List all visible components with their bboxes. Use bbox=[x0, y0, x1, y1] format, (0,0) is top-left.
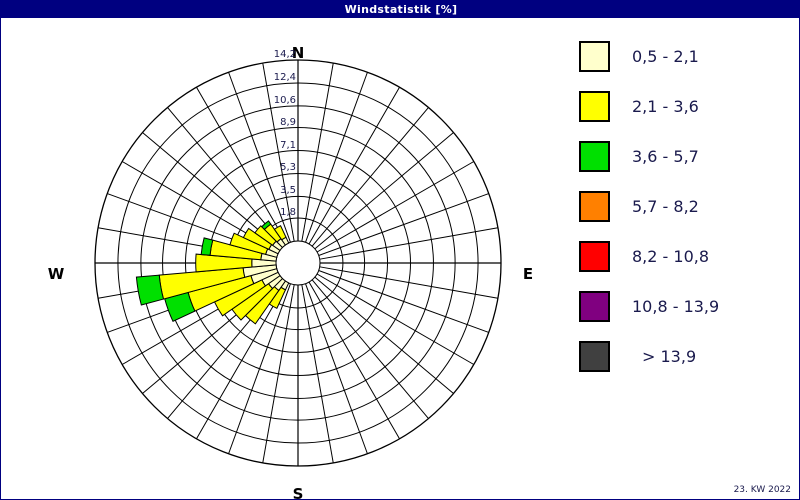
legend-label: 0,5 - 2,1 bbox=[632, 47, 699, 66]
radial-tick-label: 3,5 bbox=[256, 185, 296, 196]
legend-swatch bbox=[579, 191, 610, 222]
compass-label-west: W bbox=[41, 265, 71, 283]
grid-spoke bbox=[320, 228, 498, 259]
legend-swatch bbox=[579, 91, 610, 122]
legend-label: 3,6 - 5,7 bbox=[632, 147, 699, 166]
compass-label-east: E bbox=[513, 265, 543, 283]
legend-label: 8,2 - 10,8 bbox=[632, 247, 709, 266]
legend-item[interactable]: 3,6 - 5,7 bbox=[579, 131, 794, 181]
windrose-petal-segment bbox=[136, 275, 163, 305]
legend-item[interactable]: 2,1 - 3,6 bbox=[579, 81, 794, 131]
grid-spoke bbox=[302, 63, 333, 241]
window-title-bar: Windstatistik [%] bbox=[1, 1, 800, 18]
radial-tick-label: 14,2 bbox=[256, 49, 296, 60]
grid-spoke bbox=[317, 162, 474, 253]
legend-item[interactable]: 8,2 - 10,8 bbox=[579, 231, 794, 281]
grid-spoke bbox=[309, 282, 400, 439]
legend-swatch bbox=[579, 241, 610, 272]
windrose-window: Windstatistik [%] N E S W 1,83,55,37,18,… bbox=[0, 0, 800, 500]
windrose-canvas bbox=[1, 18, 571, 499]
legend-swatch bbox=[579, 141, 610, 172]
grid-spoke bbox=[263, 285, 294, 463]
radial-tick-label: 7,1 bbox=[256, 140, 296, 151]
legend-item[interactable]: 10,8 - 13,9 bbox=[579, 281, 794, 331]
grid-spoke bbox=[320, 267, 498, 298]
legend-label: 2,1 - 3,6 bbox=[632, 97, 699, 116]
legend-item[interactable]: > 13,9 bbox=[579, 331, 794, 381]
radial-tick-label: 12,4 bbox=[256, 72, 296, 83]
radial-tick-label: 10,6 bbox=[256, 95, 296, 106]
legend-label: 10,8 - 13,9 bbox=[632, 297, 719, 316]
legend-item[interactable]: 5,7 - 8,2 bbox=[579, 181, 794, 231]
compass-label-south: S bbox=[283, 485, 313, 500]
legend-label: > 13,9 bbox=[642, 347, 696, 366]
legend-swatch bbox=[579, 41, 610, 72]
legend-item[interactable]: 0,5 - 2,1 bbox=[579, 31, 794, 81]
grid-spoke bbox=[309, 87, 400, 244]
windrose-plot: N E S W 1,83,55,37,18,910,612,414,2 bbox=[1, 18, 571, 499]
radial-tick-label: 1,8 bbox=[256, 207, 296, 218]
legend: 0,5 - 2,12,1 - 3,63,6 - 5,75,7 - 8,28,2 … bbox=[579, 31, 794, 381]
footer-date: 23. KW 2022 bbox=[734, 485, 791, 495]
radial-tick-label: 8,9 bbox=[256, 117, 296, 128]
polar-grid bbox=[95, 60, 501, 466]
grid-spoke bbox=[302, 285, 333, 463]
grid-spoke bbox=[317, 274, 474, 365]
legend-label: 5,7 - 8,2 bbox=[632, 197, 699, 216]
window-title: Windstatistik [%] bbox=[345, 3, 458, 16]
radial-tick-label: 5,3 bbox=[256, 162, 296, 173]
legend-swatch bbox=[579, 341, 610, 372]
legend-swatch bbox=[579, 291, 610, 322]
